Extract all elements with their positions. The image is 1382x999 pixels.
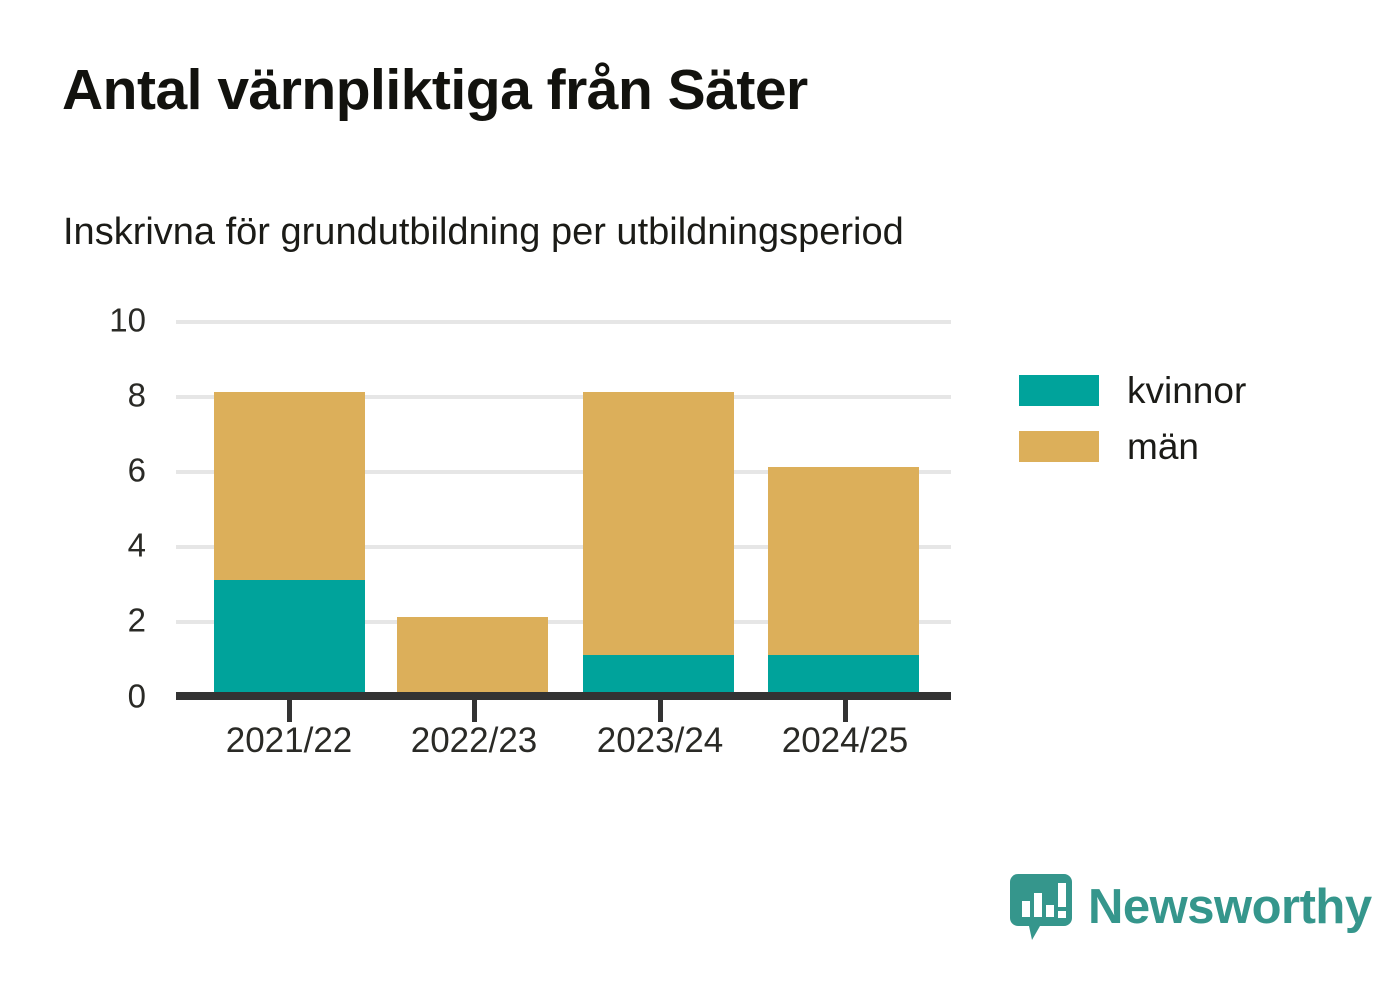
bar-segment-kvinnor-2024-25[interactable] — [768, 655, 919, 693]
y-axis: 10 8 6 4 2 0 — [80, 320, 146, 696]
y-tick-label-10: 10 — [86, 304, 146, 337]
chart-legend: kvinnor män — [1019, 362, 1246, 474]
bar-segment-man-2023-24[interactable] — [583, 392, 734, 655]
legend-item-man[interactable]: män — [1019, 418, 1246, 474]
x-tick-mark-2023-24 — [658, 700, 663, 722]
legend-swatch-icon-man — [1019, 431, 1099, 462]
newsworthy-bubble-chart-icon — [1010, 874, 1072, 940]
newsworthy-wordmark: Newsworthy — [1088, 883, 1372, 932]
x-tick-mark-2022-23 — [472, 700, 477, 722]
x-tick-mark-2021-22 — [287, 700, 292, 722]
x-tick-label-2024-25: 2024/25 — [735, 722, 955, 761]
x-tick-mark-2024-25 — [843, 700, 848, 722]
legend-label-man: män — [1127, 428, 1199, 465]
bar-segment-kvinnor-2021-22[interactable] — [214, 580, 365, 693]
legend-swatch-icon-kvinnor — [1019, 375, 1099, 406]
legend-label-kvinnor: kvinnor — [1127, 372, 1246, 409]
y-tick-label-2: 2 — [86, 604, 146, 637]
x-axis-line — [176, 692, 951, 700]
y-tick-label-4: 4 — [86, 529, 146, 562]
y-tick-label-0: 0 — [86, 680, 146, 713]
y-tick-label-8: 8 — [86, 379, 146, 412]
page-title: Antal värnpliktiga från Säter — [62, 59, 808, 122]
chart-subtitle: Inskrivna för grundutbildning per utbild… — [63, 212, 904, 254]
plot-area — [176, 320, 951, 696]
bar-segment-man-2022-23[interactable] — [397, 617, 548, 692]
bar-segment-kvinnor-2023-24[interactable] — [583, 655, 734, 693]
y-tick-label-6: 6 — [86, 454, 146, 487]
gridline-10 — [176, 320, 951, 324]
legend-item-kvinnor[interactable]: kvinnor — [1019, 362, 1246, 418]
newsworthy-logo[interactable]: Newsworthy — [1010, 874, 1372, 940]
bar-segment-man-2024-25[interactable] — [768, 467, 919, 655]
bar-segment-man-2021-22[interactable] — [214, 392, 365, 580]
